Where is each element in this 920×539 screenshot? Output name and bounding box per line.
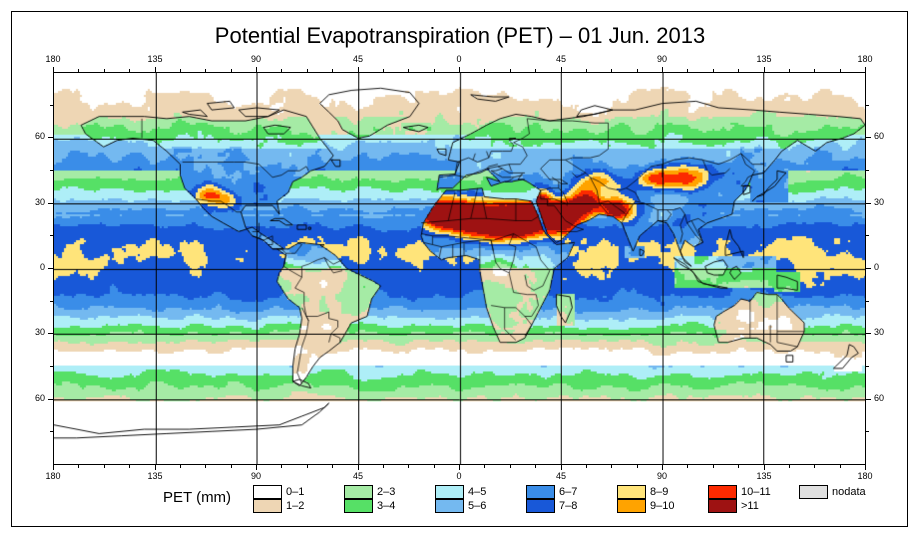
minor-tick-mark <box>687 69 688 72</box>
map-plot-area <box>53 72 866 465</box>
tick-mark <box>48 399 53 400</box>
tick-label: 0 <box>874 263 894 272</box>
minor-tick-mark <box>408 465 409 468</box>
minor-tick-mark <box>281 465 282 468</box>
tick-mark <box>866 333 871 334</box>
page-title: Potential Evapotranspiration (PET) – 01 … <box>0 23 920 49</box>
tick-mark <box>662 67 663 72</box>
minor-tick-mark <box>50 105 53 106</box>
minor-tick-mark <box>205 465 206 468</box>
tick-label: 90 <box>650 55 674 64</box>
minor-tick-mark <box>637 465 638 468</box>
legend-swatch <box>617 499 646 513</box>
legend: PET (mm) 0–11–22–33–44–55–66–77–88–99–10… <box>53 483 866 519</box>
legend-label: nodata <box>832 486 866 498</box>
minor-tick-mark <box>611 69 612 72</box>
tick-label: 135 <box>143 55 167 64</box>
minor-tick-mark <box>180 465 181 468</box>
tick-mark <box>256 67 257 72</box>
tick-label: 180 <box>41 472 65 481</box>
tick-label: 45 <box>549 472 573 481</box>
tick-mark <box>48 333 53 334</box>
legend-label: 8–9 <box>650 486 668 498</box>
minor-tick-mark <box>383 465 384 468</box>
tick-mark <box>48 137 53 138</box>
tick-label: 180 <box>41 55 65 64</box>
legend-title: PET (mm) <box>163 489 231 506</box>
tick-mark <box>561 67 562 72</box>
tick-label: 0 <box>25 263 45 272</box>
minor-tick-mark <box>50 235 53 236</box>
minor-tick-mark <box>637 69 638 72</box>
tick-mark <box>48 268 53 269</box>
minor-tick-mark <box>840 465 841 468</box>
tick-mark <box>459 465 460 470</box>
tick-label: 30 <box>25 328 45 337</box>
legend-label: 5–6 <box>468 500 486 512</box>
tick-label: 90 <box>244 472 268 481</box>
minor-tick-mark <box>484 69 485 72</box>
minor-tick-mark <box>738 465 739 468</box>
tick-mark <box>256 465 257 470</box>
minor-tick-mark <box>814 69 815 72</box>
legend-label: 6–7 <box>559 486 577 498</box>
minor-tick-mark <box>866 170 869 171</box>
minor-tick-mark <box>866 431 869 432</box>
minor-tick-mark <box>510 69 511 72</box>
minor-tick-mark <box>866 366 869 367</box>
minor-tick-mark <box>535 69 536 72</box>
tick-mark <box>764 465 765 470</box>
legend-swatch <box>253 485 282 499</box>
minor-tick-mark <box>687 465 688 468</box>
tick-label: 30 <box>874 198 894 207</box>
tick-label: 30 <box>874 328 894 337</box>
minor-tick-mark <box>434 465 435 468</box>
minor-tick-mark <box>510 465 511 468</box>
tick-label: 60 <box>874 132 894 141</box>
minor-tick-mark <box>713 69 714 72</box>
minor-tick-mark <box>484 465 485 468</box>
legend-swatch <box>708 499 737 513</box>
minor-tick-mark <box>383 69 384 72</box>
legend-label: 10–11 <box>741 486 771 498</box>
minor-tick-mark <box>789 465 790 468</box>
minor-tick-mark <box>231 465 232 468</box>
tick-mark <box>48 203 53 204</box>
minor-tick-mark <box>231 69 232 72</box>
tick-mark <box>865 465 866 470</box>
tick-label: 90 <box>650 472 674 481</box>
minor-tick-mark <box>104 69 105 72</box>
tick-mark <box>865 67 866 72</box>
tick-mark <box>53 465 54 470</box>
legend-swatch <box>799 485 828 499</box>
minor-tick-mark <box>866 235 869 236</box>
tick-label: 0 <box>447 55 471 64</box>
minor-tick-mark <box>611 465 612 468</box>
tick-mark <box>561 465 562 470</box>
minor-tick-mark <box>104 465 105 468</box>
tick-mark <box>764 67 765 72</box>
tick-label: 45 <box>346 55 370 64</box>
minor-tick-mark <box>50 170 53 171</box>
legend-label: >11 <box>741 500 759 512</box>
tick-mark <box>358 67 359 72</box>
tick-label: 60 <box>874 394 894 403</box>
legend-label: 3–4 <box>377 500 395 512</box>
minor-tick-mark <box>738 69 739 72</box>
tick-label: 180 <box>853 55 877 64</box>
minor-tick-mark <box>840 69 841 72</box>
minor-tick-mark <box>205 69 206 72</box>
minor-tick-mark <box>434 69 435 72</box>
minor-tick-mark <box>129 69 130 72</box>
legend-swatch <box>344 499 373 513</box>
tick-label: 45 <box>346 472 370 481</box>
tick-mark <box>155 67 156 72</box>
legend-swatch <box>708 485 737 499</box>
minor-tick-mark <box>814 465 815 468</box>
legend-label: 9–10 <box>650 500 674 512</box>
minor-tick-mark <box>180 69 181 72</box>
tick-label: 135 <box>143 472 167 481</box>
legend-swatch <box>435 485 464 499</box>
tick-mark <box>53 67 54 72</box>
tick-mark <box>866 203 871 204</box>
pet-map-figure: Potential Evapotranspiration (PET) – 01 … <box>0 0 920 539</box>
tick-label: 135 <box>752 472 776 481</box>
minor-tick-mark <box>307 465 308 468</box>
minor-tick-mark <box>586 465 587 468</box>
tick-mark <box>866 268 871 269</box>
tick-mark <box>358 465 359 470</box>
minor-tick-mark <box>535 465 536 468</box>
tick-label: 180 <box>853 472 877 481</box>
tick-label: 30 <box>25 198 45 207</box>
minor-tick-mark <box>586 69 587 72</box>
tick-label: 0 <box>447 472 471 481</box>
minor-tick-mark <box>408 69 409 72</box>
minor-tick-mark <box>866 301 869 302</box>
tick-mark <box>155 465 156 470</box>
minor-tick-mark <box>866 105 869 106</box>
legend-swatch <box>253 499 282 513</box>
minor-tick-mark <box>129 465 130 468</box>
minor-tick-mark <box>307 69 308 72</box>
legend-label: 7–8 <box>559 500 577 512</box>
tick-mark <box>662 465 663 470</box>
minor-tick-mark <box>281 69 282 72</box>
legend-swatch <box>435 499 464 513</box>
minor-tick-mark <box>332 69 333 72</box>
tick-mark <box>459 67 460 72</box>
minor-tick-mark <box>332 465 333 468</box>
legend-label: 1–2 <box>286 500 304 512</box>
minor-tick-mark <box>789 69 790 72</box>
tick-mark <box>866 399 871 400</box>
minor-tick-mark <box>50 366 53 367</box>
minor-tick-mark <box>78 465 79 468</box>
legend-swatch <box>526 485 555 499</box>
legend-swatch <box>526 499 555 513</box>
legend-label: 4–5 <box>468 486 486 498</box>
minor-tick-mark <box>78 69 79 72</box>
legend-label: 0–1 <box>286 486 304 498</box>
tick-label: 45 <box>549 55 573 64</box>
legend-swatch <box>617 485 646 499</box>
tick-mark <box>866 137 871 138</box>
tick-label: 90 <box>244 55 268 64</box>
tick-label: 60 <box>25 132 45 141</box>
minor-tick-mark <box>50 431 53 432</box>
minor-tick-mark <box>50 301 53 302</box>
legend-swatch <box>344 485 373 499</box>
minor-tick-mark <box>713 465 714 468</box>
tick-label: 135 <box>752 55 776 64</box>
pet-raster-map <box>54 73 865 464</box>
legend-label: 2–3 <box>377 486 395 498</box>
tick-label: 60 <box>25 394 45 403</box>
